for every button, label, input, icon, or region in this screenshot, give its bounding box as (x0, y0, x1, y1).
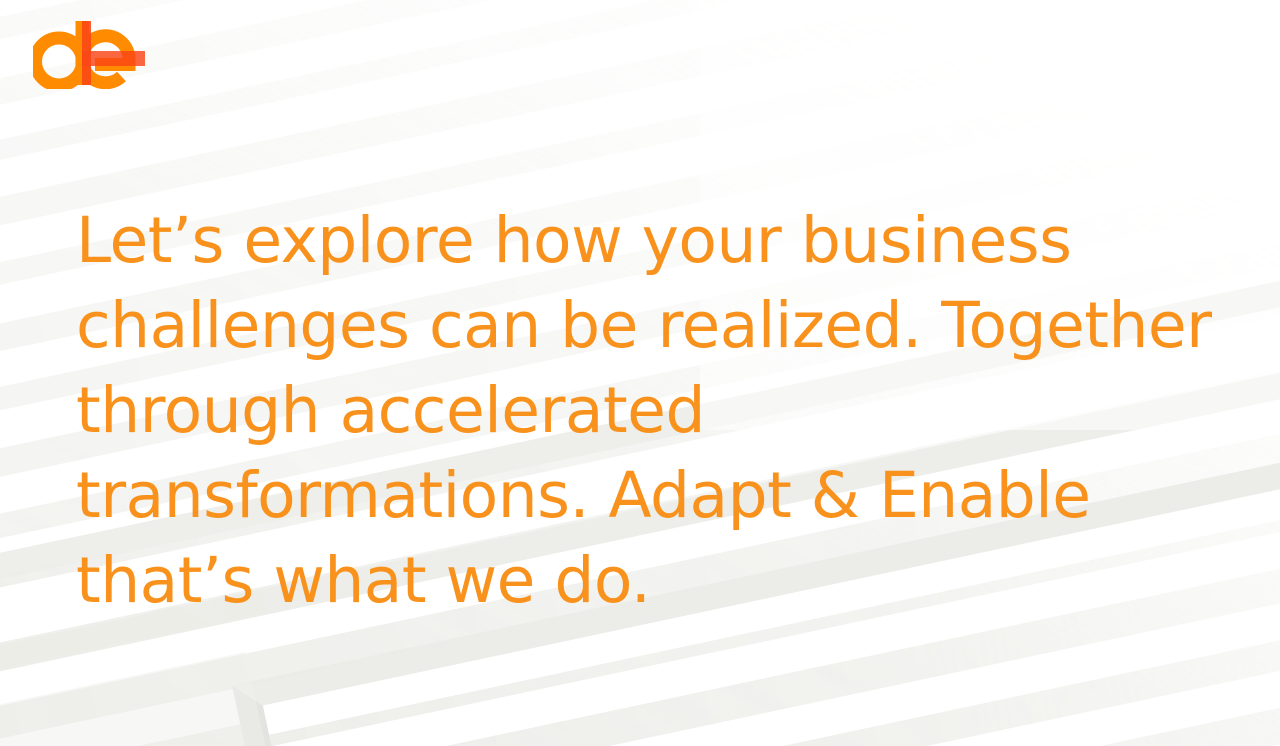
logo-accent-horizontal-bar (82, 51, 145, 66)
ae-logo-icon (33, 21, 151, 89)
page-title: Let’s explore how your business challeng… (76, 198, 1226, 623)
slide-canvas: Let’s explore how your business challeng… (0, 0, 1280, 746)
ae-logo[interactable] (33, 21, 151, 89)
